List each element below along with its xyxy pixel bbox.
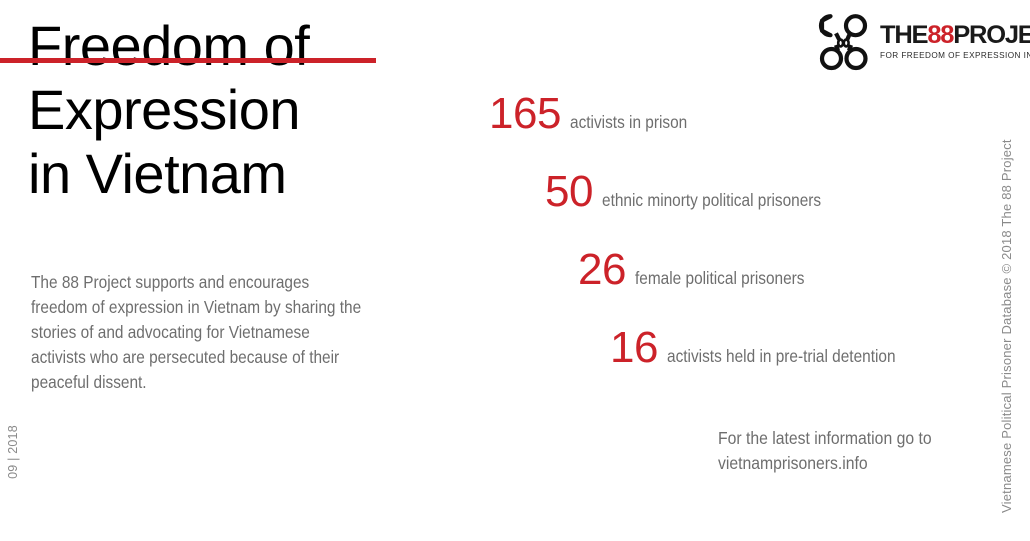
logo-word-88: 88 [927, 21, 953, 49]
logo-word-project: PROJECT [953, 21, 1030, 49]
stat-label: activists in prison [570, 112, 687, 132]
stat-value: 165 [489, 92, 561, 136]
red-strikethrough-rule [0, 58, 376, 63]
date-label: 09 | 2018 [6, 407, 20, 497]
infographic-poster: Freedom of Expression in Vietnam The 88 … [0, 0, 1030, 541]
title-line-1: Freedom of [28, 14, 448, 78]
title-line-2: Expression [28, 78, 448, 142]
stat-row: 165 activists in prison [489, 92, 703, 136]
stat-row: 26 female political prisoners [578, 248, 828, 292]
logo-word-the: THE [880, 21, 927, 49]
logo-wordmark: THE88PROJECT [880, 22, 1030, 48]
page-title: Freedom of Expression in Vietnam [28, 14, 448, 206]
stat-row: 16 activists held in pre-trial detention [610, 326, 927, 370]
title-line-3: in Vietnam [28, 142, 448, 206]
stat-value: 16 [610, 326, 658, 370]
stat-row: 50 ethnic minorty political prisoners [545, 170, 851, 214]
cta-line-1: For the latest information go to [718, 426, 961, 451]
copyright-label: Vietnamese Political Prisoner Database ©… [999, 168, 1014, 513]
stat-label: ethnic minorty political prisoners [602, 190, 821, 210]
handcuffs-icon [816, 12, 872, 72]
stat-value: 50 [545, 170, 593, 214]
stat-value: 26 [578, 248, 626, 292]
stat-label: activists held in pre-trial detention [667, 346, 896, 366]
logo-text-block: THE88PROJECT FOR FREEDOM OF EXPRESSION I… [880, 12, 1030, 62]
cta-website-link[interactable]: vietnamprisoners.info [718, 451, 961, 476]
logo-tagline: FOR FREEDOM OF EXPRESSION IN VIETNAM [880, 50, 1030, 62]
stat-label: female political prisoners [635, 268, 804, 288]
logo[interactable]: THE88PROJECT FOR FREEDOM OF EXPRESSION I… [816, 12, 1030, 72]
intro-paragraph: The 88 Project supports and encourages f… [31, 270, 365, 395]
call-to-action: For the latest information go to vietnam… [718, 426, 961, 476]
